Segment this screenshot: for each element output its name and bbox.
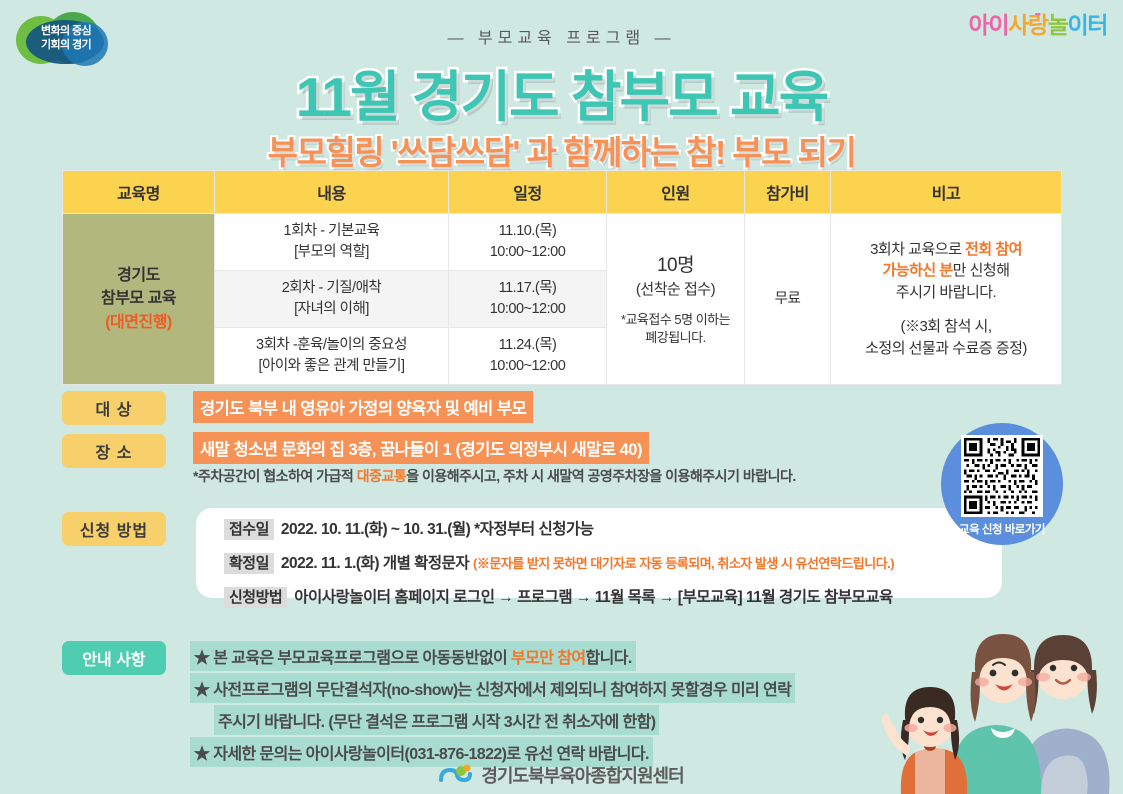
- notice-line-2: ★ 사전프로그램의 무단결석자(no-show)는 신청자에서 제외되니 참여하…: [190, 673, 795, 703]
- apply-tag-confirmation: 확정일: [224, 553, 274, 574]
- apply-text-method: 아이사랑놀이터 홈페이지 로그인 → 프로그램 → 11월 목록 → [부모교육…: [294, 589, 893, 606]
- center-logo-icon: [439, 764, 473, 786]
- notice-line-3-text: 주시기 바랍니다. (무단 결석은 프로그램 시작 3시간 전 취소자에 한함): [214, 705, 659, 735]
- content-2-line1: 2회차 - 기질/애착: [219, 278, 444, 299]
- time-1: 10:00~12:00: [453, 242, 602, 263]
- apply-row-reception: 접수일2022. 10. 11.(화) ~ 10. 31.(월) *자정부터 신…: [224, 519, 1002, 540]
- capacity-warning-line1: *교육접수 5명 이하는: [621, 312, 730, 327]
- apply-details-box: 접수일2022. 10. 11.(화) ~ 10. 31.(월) *자정부터 신…: [196, 508, 1002, 598]
- remark-line5: 소정의 선물과 수료증 증정): [865, 340, 1027, 357]
- cell-date-2: 11.17.(목) 10:00~12:00: [449, 271, 607, 328]
- notice-line-1: ★ 본 교육은 부모교육프로그램으로 아동동반없이 부모만 참여합니다.: [190, 641, 636, 671]
- table-header-row: 교육명 내용 일정 인원 참가비 비고: [63, 171, 1062, 214]
- place-note-post: 을 이용해주시고, 주차 시 새말역 공영주차장을 이용해주시기 바랍니다.: [406, 468, 796, 484]
- th-capacity: 인원: [607, 171, 745, 214]
- apply-note-confirmation: (※문자를 받지 못하면 대기자로 자동 등록되며, 취소자 발생 시 유선연락…: [473, 556, 894, 571]
- qr-code-image[interactable]: [961, 435, 1043, 517]
- remark-highlight-1: 전회 참여: [965, 241, 1022, 258]
- content-2-line2: [자녀의 이해]: [219, 299, 444, 320]
- table-row: 경기도 참부모 교육 (대면진행) 1회차 - 기본교육 [부모의 역할] 11…: [63, 214, 1062, 271]
- date-3: 11.24.(목): [453, 335, 602, 356]
- remark-line3: 주시기 바랍니다.: [896, 284, 996, 301]
- apply-tag-reception: 접수일: [224, 519, 274, 540]
- notice-1-post: 합니다.: [585, 650, 631, 667]
- time-2: 10:00~12:00: [453, 299, 602, 320]
- apply-text-confirmation: 2022. 11. 1.(화) 개별 확정문자: [281, 555, 473, 572]
- notice-line-1-text: ★ 본 교육은 부모교육프로그램으로 아동동반없이 부모만 참여합니다.: [190, 641, 636, 671]
- course-mode: (대면진행): [67, 311, 210, 334]
- footer-organization-name: 경기도북부육아종합지원센터: [481, 766, 683, 786]
- th-content: 내용: [215, 171, 449, 214]
- th-date: 일정: [449, 171, 607, 214]
- place-label: 장 소: [62, 434, 166, 468]
- apply-text-reception: 2022. 10. 11.(화) ~ 10. 31.(월) *자정부터 신청가능: [281, 521, 594, 538]
- notice-1-highlight: 부모만 참여: [511, 650, 585, 667]
- course-name-line2: 참부모 교육: [67, 287, 210, 310]
- footer-organization: 경기도북부육아종합지원센터: [0, 762, 1123, 788]
- time-3: 10:00~12:00: [453, 356, 602, 377]
- province-slogan-line1: 변화의 중심: [30, 24, 102, 38]
- remark-pre: 3회차 교육으로: [870, 241, 965, 258]
- remark-highlight-2: 가능하신 분: [882, 262, 952, 279]
- th-course-name: 교육명: [63, 171, 215, 214]
- cell-remark: 3회차 교육으로 전회 참여 가능하신 분만 신청해 주시기 바랍니다. (※3…: [831, 214, 1062, 385]
- program-eyebrow: — 부모교육 프로그램 —: [0, 24, 1123, 48]
- capacity-note: (선착순 접수): [611, 279, 740, 301]
- notice-line-2-text: ★ 사전프로그램의 무단결석자(no-show)는 신청자에서 제외되니 참여하…: [190, 673, 795, 703]
- remark-mid: 만 신청해: [953, 262, 1010, 279]
- cell-content-2: 2회차 - 기질/애착 [자녀의 이해]: [215, 271, 449, 328]
- content-1-line1: 1회차 - 기본교육: [219, 221, 444, 242]
- apply-row-method: 신청방법아이사랑놀이터 홈페이지 로그인 → 프로그램 → 11월 목록 → […: [224, 587, 1002, 608]
- province-slogan-line2: 기회의 경기: [30, 38, 102, 52]
- schedule-table: 교육명 내용 일정 인원 참가비 비고 경기도 참부모 교육 (대면진행) 1회…: [62, 170, 1062, 385]
- place-value-wrap: 새말 청소년 문화의 집 3층, 꿈나들이 1 (경기도 의정부시 새말로 40…: [193, 432, 649, 464]
- province-logo-text: 변화의 중심 기회의 경기: [30, 24, 102, 52]
- cell-content-3: 3회차 -훈육/놀이의 중요성 [아이와 좋은 관계 만들기]: [215, 328, 449, 385]
- cell-course-name: 경기도 참부모 교육 (대면진행): [63, 214, 215, 385]
- target-value: 경기도 북부 내 영유아 가정의 양육자 및 예비 부모: [193, 391, 533, 423]
- notice-1-pre: ★ 본 교육은 부모교육프로그램으로 아동동반없이: [194, 650, 511, 667]
- capacity-count: 10명: [611, 252, 740, 280]
- qr-code-button[interactable]: 교육 신청 바로가기: [941, 423, 1063, 545]
- apply-tag-method: 신청방법: [224, 587, 287, 608]
- apply-row-confirmation: 확정일2022. 11. 1.(화) 개별 확정문자 (※문자를 받지 못하면 …: [224, 553, 1002, 574]
- cell-fee: 무료: [745, 214, 831, 385]
- date-1: 11.10.(목): [453, 221, 602, 242]
- place-value: 새말 청소년 문화의 집 3층, 꿈나들이 1 (경기도 의정부시 새말로 40…: [193, 432, 649, 464]
- qr-code-svg: [964, 438, 1040, 514]
- capacity-warning: *교육접수 5명 이하는 폐강됩니다.: [611, 311, 740, 346]
- th-remark: 비고: [831, 171, 1062, 214]
- place-note: *주차공간이 협소하여 가급적 대중교통을 이용해주시고, 주차 시 새말역 공…: [193, 466, 796, 486]
- capacity-warning-line2: 폐강됩니다.: [645, 330, 705, 345]
- place-note-highlight: 대중교통: [357, 468, 407, 484]
- qr-caption: 교육 신청 바로가기: [941, 521, 1063, 537]
- apply-label: 신청 방법: [62, 512, 166, 546]
- target-value-wrap: 경기도 북부 내 영유아 가정의 양육자 및 예비 부모: [193, 391, 533, 423]
- course-name-line1: 경기도: [67, 264, 210, 287]
- date-2: 11.17.(목): [453, 278, 602, 299]
- remark-gap: [835, 304, 1057, 316]
- content-1-line2: [부모의 역할]: [219, 242, 444, 263]
- place-note-pre: *주차공간이 협소하여 가급적: [193, 468, 357, 484]
- poster-subtitle: 부모힐링 '쓰담쓰담' 과 함께하는 참! 부모 되기: [0, 126, 1123, 174]
- cell-date-3: 11.24.(목) 10:00~12:00: [449, 328, 607, 385]
- cell-content-1: 1회차 - 기본교육 [부모의 역할]: [215, 214, 449, 271]
- cell-date-1: 11.10.(목) 10:00~12:00: [449, 214, 607, 271]
- notice-line-3: 주시기 바랍니다. (무단 결석은 프로그램 시작 3시간 전 취소자에 한함): [214, 705, 659, 735]
- content-3-line1: 3회차 -훈육/놀이의 중요성: [219, 335, 444, 356]
- th-fee: 참가비: [745, 171, 831, 214]
- poster-title: 11월 경기도 참부모 교육: [0, 52, 1123, 132]
- notice-label: 안내 사항: [62, 641, 166, 675]
- content-3-line2: [아이와 좋은 관계 만들기]: [219, 356, 444, 377]
- remark-line4: (※3회 참석 시,: [900, 318, 991, 335]
- cell-capacity: 10명 (선착순 접수) *교육접수 5명 이하는 폐강됩니다.: [607, 214, 745, 385]
- target-label: 대 상: [62, 391, 166, 425]
